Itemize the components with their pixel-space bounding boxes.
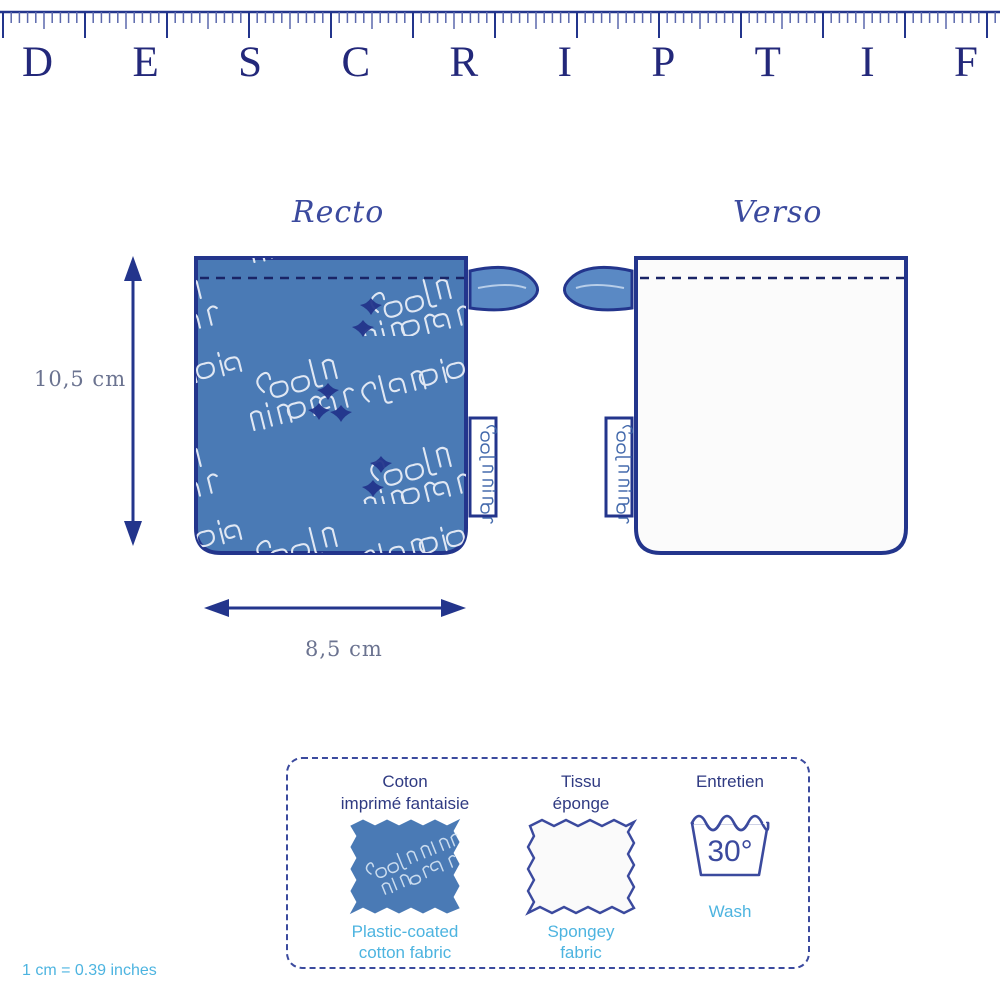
legend-item-cotton: Coton imprimé fantaisie Plastic-coated c… bbox=[310, 759, 500, 971]
verso-body bbox=[636, 258, 906, 553]
dimension-width-arrow bbox=[204, 599, 466, 617]
verso-heading: Verso bbox=[733, 195, 822, 230]
fabric-swatch-icon bbox=[310, 817, 500, 921]
legend-item-sponge: Tissu éponge Spongey fabric bbox=[506, 759, 656, 971]
wash-tub-icon: 30° bbox=[660, 797, 800, 901]
wash-temperature: 30° bbox=[707, 835, 752, 868]
legend-title-fr: Tissu éponge bbox=[506, 771, 656, 815]
recto-heading: Recto bbox=[292, 195, 384, 230]
verso-loop-handle bbox=[564, 267, 632, 309]
fabric-swatch-icon bbox=[506, 817, 656, 921]
recto-label-tag bbox=[470, 418, 497, 523]
legend-subtitle-en: Wash bbox=[660, 901, 800, 923]
recto-fabric-pattern bbox=[196, 258, 466, 553]
legend-title-fr: Coton imprimé fantaisie bbox=[310, 771, 500, 815]
legend-title-fr: Entretien bbox=[660, 771, 800, 793]
verso-pouch bbox=[564, 258, 906, 553]
recto-pouch bbox=[196, 258, 538, 553]
dimension-height-arrow bbox=[124, 256, 142, 546]
legend-subtitle-en: Plastic-coated cotton fabric bbox=[310, 921, 500, 965]
dimension-height-label: 10,5 cm bbox=[34, 367, 126, 391]
verso-label-tag bbox=[606, 418, 633, 523]
recto-loop-handle bbox=[470, 267, 538, 309]
legend-panel: Coton imprimé fantaisie Plastic-coated c… bbox=[286, 757, 810, 969]
legend-subtitle-en: Spongey fabric bbox=[506, 921, 656, 965]
unit-conversion-note: 1 cm = 0.39 inches bbox=[22, 962, 157, 980]
dimension-width-label: 8,5 cm bbox=[305, 637, 383, 661]
legend-item-care: Entretien 30° Wash bbox=[660, 759, 800, 971]
